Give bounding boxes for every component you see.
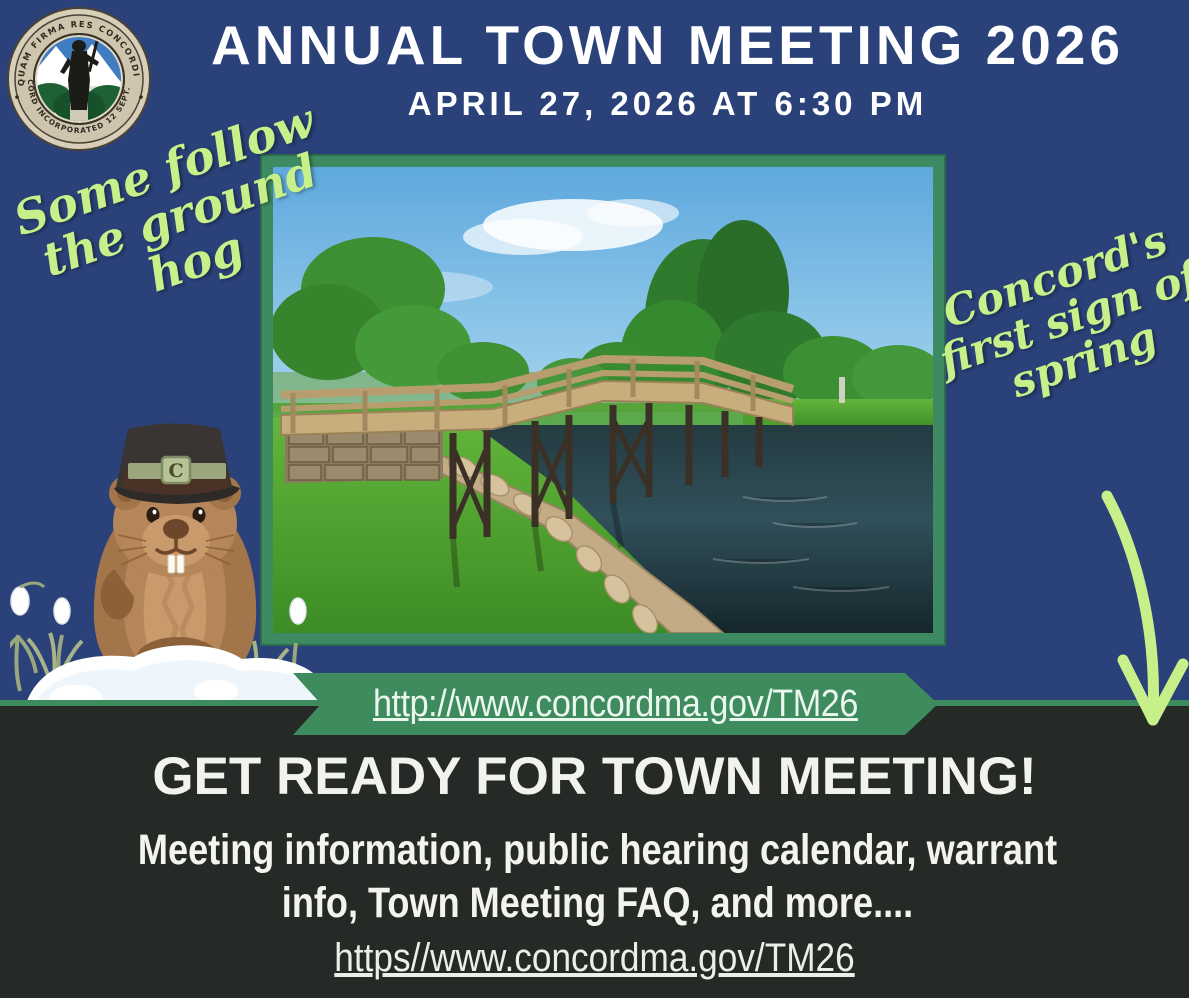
top-hat: C (114, 424, 240, 505)
old-north-bridge-photo-frame (262, 156, 944, 644)
footer-headline: GET READY FOR TOWN MEETING! (0, 746, 1189, 807)
page-title: ANNUAL TOWN MEETING 2026 (150, 10, 1185, 80)
groundhog-illustration: C (10, 405, 340, 725)
url-ribbon[interactable]: http://www.concordma.gov/TM26 (293, 673, 938, 735)
footer-description: Meeting information, public hearing cale… (96, 824, 1100, 930)
ribbon-url-link[interactable]: http://www.concordma.gov/TM26 (373, 683, 858, 726)
hat-initial: C (168, 460, 183, 482)
old-north-bridge-photo (273, 167, 933, 633)
town-seal: QUAM FIRMA RES CONCORDIA CONCORD INCORPO… (4, 2, 154, 152)
annotation-right-script: Concord's first sign of spring (920, 212, 1189, 425)
footer-url-link[interactable]: https//www.concordma.gov/TM26 (71, 936, 1117, 981)
town-meeting-poster: QUAM FIRMA RES CONCORDIA CONCORD INCORPO… (0, 0, 1189, 998)
